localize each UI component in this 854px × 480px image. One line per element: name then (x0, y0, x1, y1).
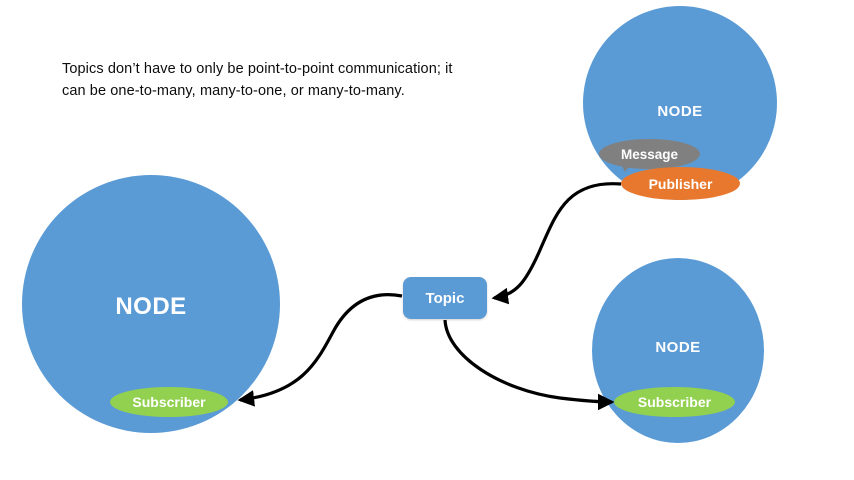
message-ellipse[interactable]: Message (599, 139, 700, 169)
subscriber-node-right-label: NODE (592, 339, 764, 356)
arrow-publisher-to-topic (494, 184, 621, 298)
publisher-ellipse[interactable]: Publisher (621, 167, 740, 200)
subscriber-node-left-label: NODE (22, 293, 280, 321)
arrow-topic-to-subscriber-right (445, 320, 612, 402)
subscriber-ellipse-right[interactable]: Subscriber (614, 387, 735, 417)
subscriber-ellipse-left[interactable]: Subscriber (110, 387, 228, 417)
publisher-node-label: NODE (583, 103, 777, 120)
topic-box[interactable]: Topic (403, 277, 487, 319)
diagram-canvas: Topics don’t have to only be point-to-po… (0, 0, 854, 480)
caption-text: Topics don’t have to only be point-to-po… (62, 58, 482, 103)
